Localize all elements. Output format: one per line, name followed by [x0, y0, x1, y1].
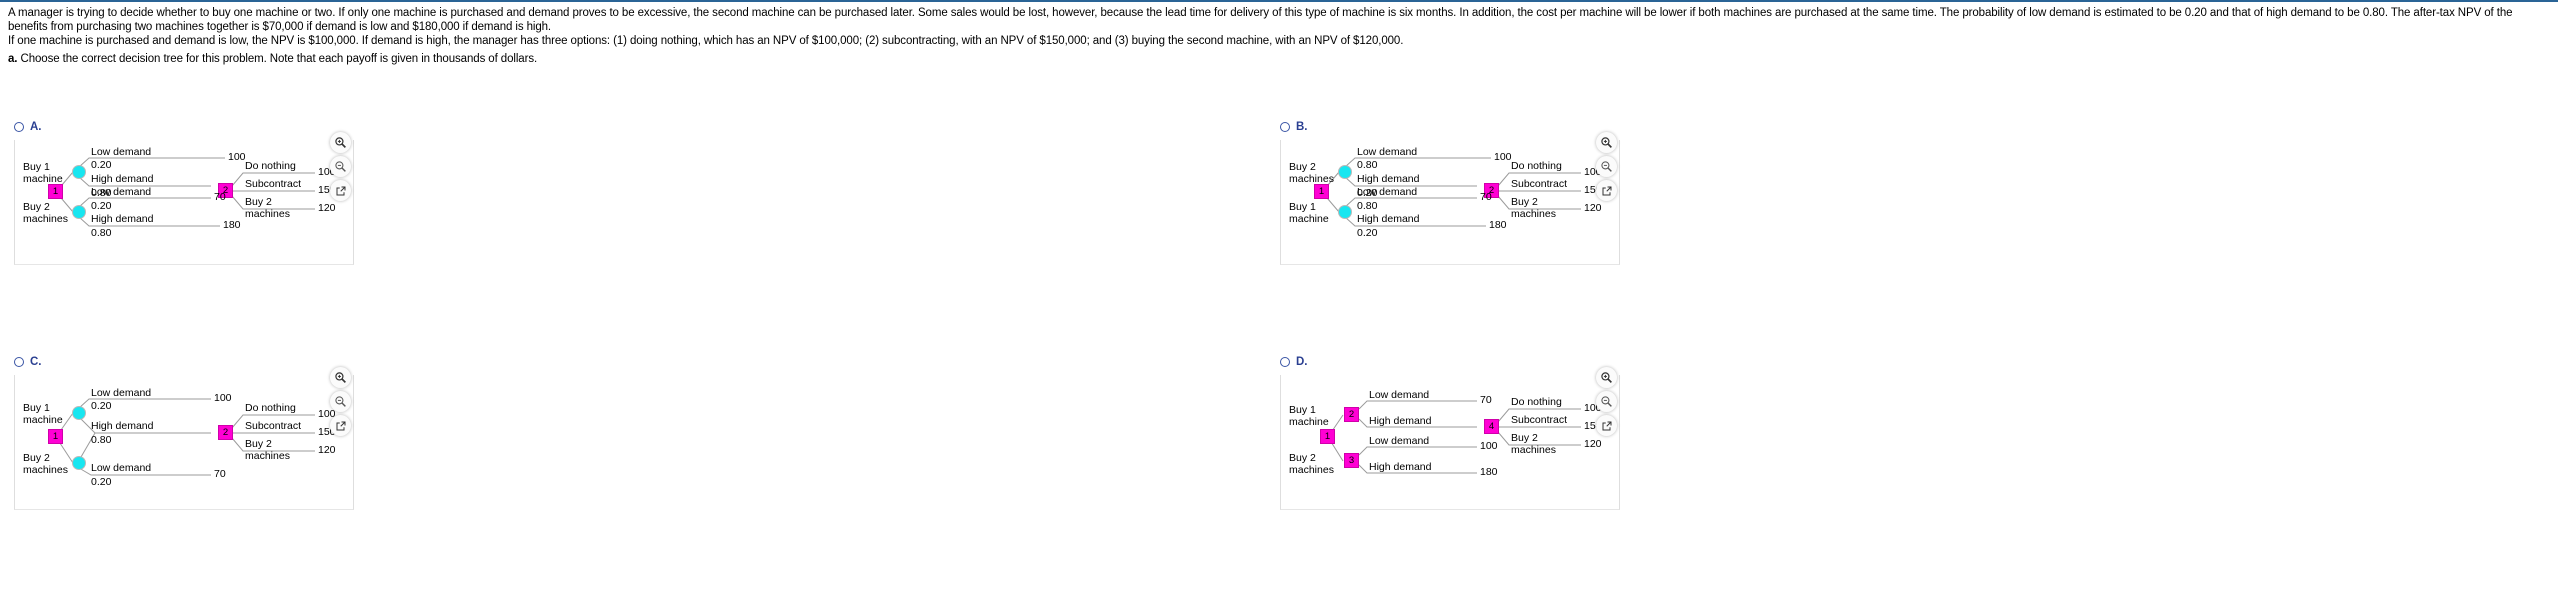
- top-low-prob-b: 0.80: [1357, 160, 1377, 171]
- question-prompt: a. Choose the correct decision tree for …: [8, 52, 1208, 66]
- branch-label-top-d: Buy 1machine: [1289, 405, 1329, 428]
- branch-label-bottom-d: Buy 2machines: [1289, 453, 1334, 476]
- pop-out-icon[interactable]: [330, 415, 351, 436]
- choice-b-header[interactable]: B.: [1280, 120, 1620, 134]
- top-high-label-c: High demand: [91, 421, 153, 432]
- option-do-nothing-c: Do nothing: [245, 403, 296, 414]
- bot-high-prob-a: 0.80: [91, 228, 111, 239]
- radio-button-a[interactable]: [14, 122, 24, 132]
- chance-node-top-b[interactable]: [1338, 165, 1352, 179]
- tree-panel-d: Buy 1machine Buy 2machines 1 2 3 4 Low d…: [1280, 375, 1620, 510]
- bot-high-label-d: High demand: [1369, 462, 1431, 473]
- top-low-payoff-c: 100: [214, 393, 232, 404]
- decision-node-1-a[interactable]: 1: [48, 184, 63, 199]
- prompt-text: Choose the correct decision tree for thi…: [17, 53, 537, 65]
- panel-d-toolbar[interactable]: [1596, 367, 1617, 436]
- option-buy2-c: Buy 2machines: [245, 439, 290, 462]
- header-rule: [0, 0, 2558, 2]
- top-low-label-d: Low demand: [1369, 390, 1429, 401]
- bot-low-payoff-b: 70: [1480, 192, 1492, 203]
- decision-node-4-d[interactable]: 4: [1484, 419, 1499, 434]
- option-subcontract-d: Subcontract: [1511, 415, 1567, 426]
- branch-label-top-c: Buy 1machine: [23, 403, 63, 426]
- branch-label-bottom-b: Buy 1machine: [1289, 202, 1329, 225]
- answer-choice-b[interactable]: B.: [1280, 120, 1620, 265]
- zoom-in-icon[interactable]: [1596, 132, 1617, 153]
- decision-node-1-d[interactable]: 1: [1320, 429, 1335, 444]
- bot-high-payoff-b: 180: [1489, 220, 1507, 231]
- pop-out-icon[interactable]: [1596, 180, 1617, 201]
- option-do-nothing-d: Do nothing: [1511, 397, 1562, 408]
- decision-node-2-d[interactable]: 2: [1344, 407, 1359, 422]
- decision-node-3-d[interactable]: 3: [1344, 453, 1359, 468]
- decision-node-2-c[interactable]: 2: [218, 425, 233, 440]
- top-low-prob-a: 0.20: [91, 160, 111, 171]
- zoom-out-icon[interactable]: [1596, 391, 1617, 412]
- top-high-label-a: High demand: [91, 174, 153, 185]
- top-low-payoff-d: 70: [1480, 395, 1492, 406]
- branch-label-bottom-a: Buy 2machines: [23, 202, 68, 225]
- bot-low-prob-a: 0.20: [91, 201, 111, 212]
- bot-low-label-a: Low demand: [91, 187, 151, 198]
- chance-node-bottom-c[interactable]: [72, 456, 86, 470]
- bot-low-prob-c: 0.20: [91, 477, 111, 488]
- tree-panel-c: Buy 1machine Buy 2machines 1 2 Low deman…: [14, 375, 354, 510]
- top-low-label-a: Low demand: [91, 147, 151, 158]
- top-low-label-c: Low demand: [91, 388, 151, 399]
- option-buy2-payoff-b: 120: [1584, 203, 1602, 214]
- chance-node-top-a[interactable]: [72, 165, 86, 179]
- decision-tree-c: Buy 1machine Buy 2machines 1 2 Low deman…: [15, 375, 355, 509]
- problem-paragraph-2: If one machine is purchased and demand i…: [8, 34, 2553, 48]
- answer-choice-c[interactable]: C.: [14, 355, 354, 510]
- bot-low-payoff-d: 100: [1480, 441, 1498, 452]
- bot-low-prob-b: 0.80: [1357, 201, 1377, 212]
- option-buy2-payoff-d: 120: [1584, 439, 1602, 450]
- option-buy2-b: Buy 2machines: [1511, 197, 1556, 220]
- zoom-out-icon[interactable]: [330, 391, 351, 412]
- bot-low-label-c: Low demand: [91, 463, 151, 474]
- top-low-prob-c: 0.20: [91, 401, 111, 412]
- radio-button-c[interactable]: [14, 357, 24, 367]
- radio-button-b[interactable]: [1280, 122, 1290, 132]
- choice-d-letter: D.: [1296, 356, 1308, 368]
- choice-b-letter: B.: [1296, 121, 1308, 133]
- choice-c-letter: C.: [30, 356, 42, 368]
- bot-low-label-d: Low demand: [1369, 436, 1429, 447]
- bot-high-payoff-a: 180: [223, 220, 241, 231]
- option-buy2-d: Buy 2machines: [1511, 433, 1556, 456]
- branch-label-top-a: Buy 1machine: [23, 162, 63, 185]
- radio-button-d[interactable]: [1280, 357, 1290, 367]
- bot-high-label-b: High demand: [1357, 214, 1419, 225]
- option-subcontract-c: Subcontract: [245, 421, 301, 432]
- panel-a-toolbar[interactable]: [330, 132, 351, 201]
- problem-paragraph-1: A manager is trying to decide whether to…: [8, 6, 2553, 34]
- top-high-label-b: High demand: [1357, 174, 1419, 185]
- decision-node-1-c[interactable]: 1: [48, 429, 63, 444]
- decision-node-1-b[interactable]: 1: [1314, 184, 1329, 199]
- top-low-payoff-b: 100: [1494, 152, 1512, 163]
- branch-label-top-b: Buy 2machines: [1289, 162, 1334, 185]
- option-buy2-a: Buy 2machines: [245, 197, 290, 220]
- option-subcontract-b: Subcontract: [1511, 179, 1567, 190]
- tree-panel-b: Buy 2machines Buy 1machine 1 2 Low deman…: [1280, 140, 1620, 265]
- zoom-in-icon[interactable]: [330, 367, 351, 388]
- prompt-label: a.: [8, 53, 17, 65]
- chance-node-bottom-a[interactable]: [72, 205, 86, 219]
- choice-a-letter: A.: [30, 121, 42, 133]
- zoom-in-icon[interactable]: [1596, 367, 1617, 388]
- tree-panel-a: Buy 1machine Buy 2machines 1 2 Low deman…: [14, 140, 354, 265]
- option-buy2-payoff-c: 120: [318, 445, 336, 456]
- bot-high-payoff-d: 180: [1480, 467, 1498, 478]
- zoom-out-icon[interactable]: [1596, 156, 1617, 177]
- bot-low-label-b: Low demand: [1357, 187, 1417, 198]
- decision-tree-a: Buy 1machine Buy 2machines 1 2 Low deman…: [15, 140, 355, 264]
- bot-low-payoff-c: 70: [214, 469, 226, 480]
- pop-out-icon[interactable]: [1596, 415, 1617, 436]
- option-subcontract-a: Subcontract: [245, 179, 301, 190]
- branch-label-bottom-c: Buy 2machines: [23, 453, 68, 476]
- bot-low-payoff-a: 70: [214, 192, 226, 203]
- option-do-nothing-b: Do nothing: [1511, 161, 1562, 172]
- bot-high-prob-b: 0.20: [1357, 228, 1377, 239]
- choice-c-header[interactable]: C.: [14, 355, 354, 369]
- choice-d-header[interactable]: D.: [1280, 355, 1620, 369]
- choice-a-header[interactable]: A.: [14, 120, 354, 134]
- top-low-payoff-a: 100: [228, 152, 246, 163]
- bot-high-label-a: High demand: [91, 214, 153, 225]
- option-buy2-payoff-a: 120: [318, 203, 336, 214]
- chance-node-top-c[interactable]: [72, 406, 86, 420]
- top-high-label-d: High demand: [1369, 416, 1431, 427]
- chance-node-bottom-b[interactable]: [1338, 205, 1352, 219]
- decision-tree-b: Buy 2machines Buy 1machine 1 2 Low deman…: [1281, 140, 1621, 264]
- answer-choice-d[interactable]: D.: [1280, 355, 1620, 510]
- zoom-out-icon[interactable]: [330, 156, 351, 177]
- zoom-in-icon[interactable]: [330, 132, 351, 153]
- top-low-label-b: Low demand: [1357, 147, 1417, 158]
- answer-choice-a[interactable]: A.: [14, 120, 354, 265]
- pop-out-icon[interactable]: [330, 180, 351, 201]
- decision-tree-d: Buy 1machine Buy 2machines 1 2 3 4 Low d…: [1281, 375, 1621, 509]
- top-high-prob-c: 0.80: [91, 435, 111, 446]
- option-do-nothing-a: Do nothing: [245, 161, 296, 172]
- panel-b-toolbar[interactable]: [1596, 132, 1617, 201]
- panel-c-toolbar[interactable]: [330, 367, 351, 436]
